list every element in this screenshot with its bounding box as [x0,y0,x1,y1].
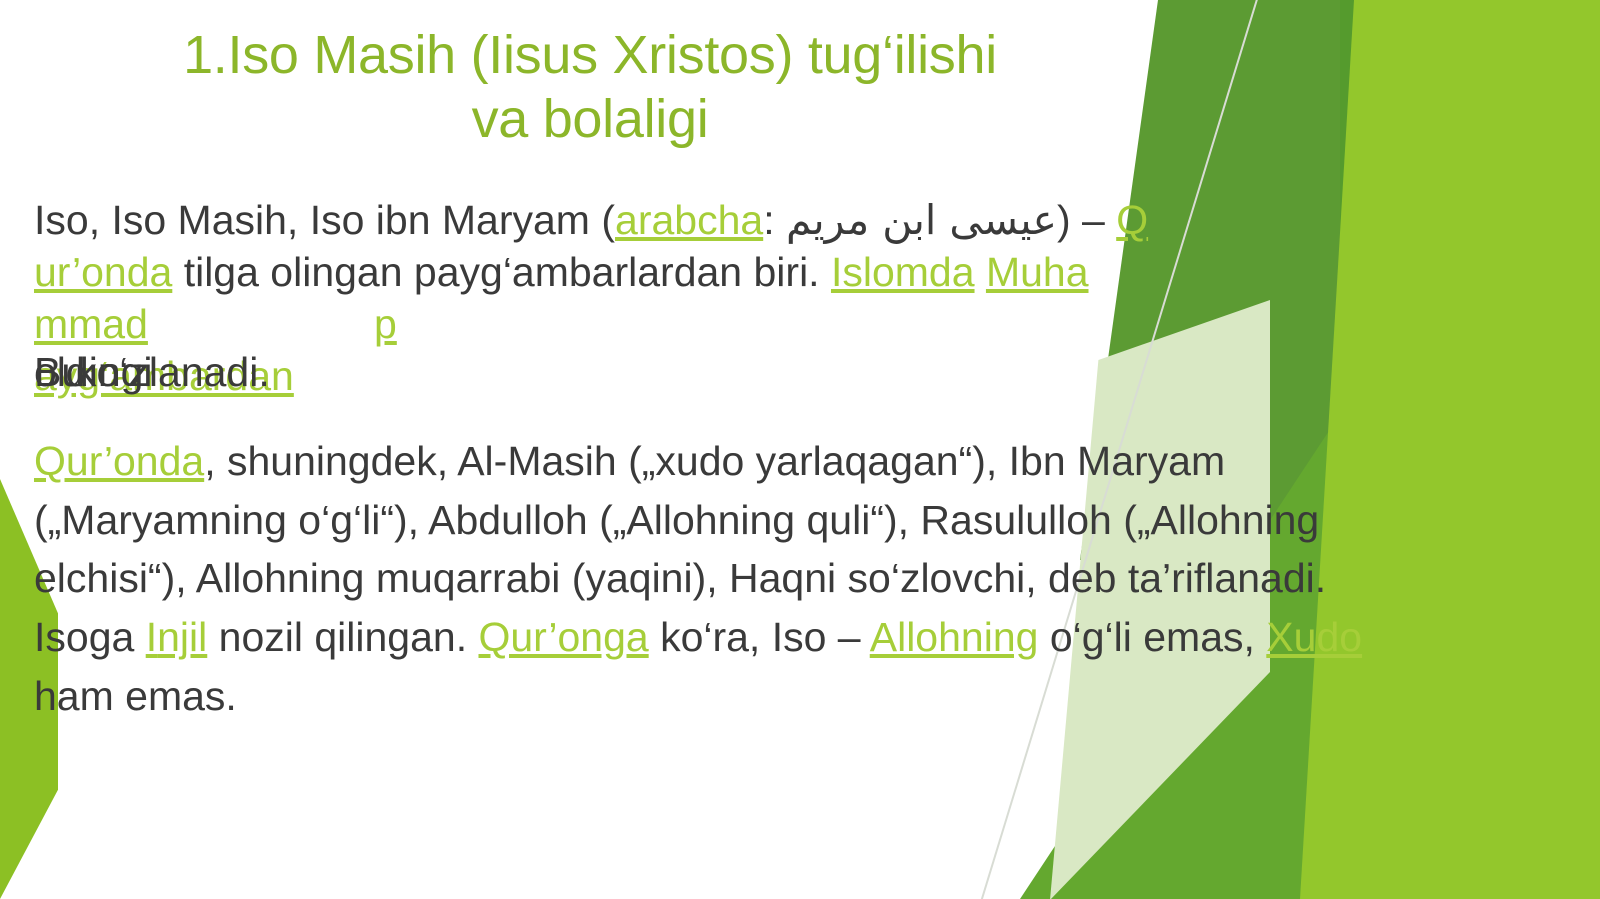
paragraph-description: Qur’onda, shuningdek, Al-Masih („xudo ya… [34,432,1424,725]
paragraph-intro: Iso, Iso Masih, Iso ibn Maryam (arabcha:… [34,200,1424,410]
intro-text-pre: Iso, Iso Masih, Iso ibn Maryam ( [34,197,615,243]
link-quronda-2[interactable]: Qur’onda [34,438,204,484]
paragraph-intro-tail: ko‘zlanadi. [76,352,270,394]
link-muhammad-part2[interactable]: mmad [34,301,148,347]
arabic-name: عيسى ابن مريم [786,196,1057,244]
tail-text-kozlanadi: ko‘zlanadi. [76,349,270,395]
link-paygambardan-part1[interactable]: p [374,301,397,347]
link-islomda[interactable]: Islomda [831,249,975,295]
description-text-3: ko‘ra, Iso – [649,614,870,660]
link-quronda-part1[interactable]: Q [1116,197,1148,243]
link-allohning[interactable]: Allohning [870,614,1039,660]
space-separator [975,249,986,295]
paragraph-intro-line-1: Iso, Iso Masih, Iso ibn Maryam (arabcha:… [34,200,1148,242]
link-injil-part1[interactable]: I [146,614,157,660]
link-arabcha[interactable]: arabcha [615,197,763,243]
link-injil-part2[interactable]: njil [157,614,207,660]
close-paren: ) – [1057,197,1116,243]
link-quronda-part2[interactable]: ur’onda [34,249,172,295]
link-xudo[interactable]: Xudo [1266,614,1362,660]
description-text-4: o‘g‘li emas, [1038,614,1266,660]
paragraph-intro-line-2: ur’onda tilga olingan payg‘ambarlardan b… [34,252,1089,294]
slide-title: 1.Iso Masih (Iisus Xristos) tug‘ilishi v… [40,24,1140,151]
link-muhammad-part1[interactable]: Muha [986,249,1089,295]
presentation-slide: 1.Iso Masih (Iisus Xristos) tug‘ilishi v… [0,0,1600,899]
intro-text-mid: tilga olingan payg‘ambarlardan biri. [172,249,831,295]
paragraph-intro-line-3-overflow: p [374,304,397,346]
slide-body: Iso, Iso Masih, Iso ibn Maryam (arabcha:… [34,200,1434,410]
link-quronga[interactable]: Qur’onga [478,614,648,660]
description-text-5: ham emas. [34,673,237,719]
paragraph-intro-line-3: mmad [34,304,148,346]
colon-separator: : [763,197,786,243]
description-text-2: nozil qilingan. [207,614,478,660]
